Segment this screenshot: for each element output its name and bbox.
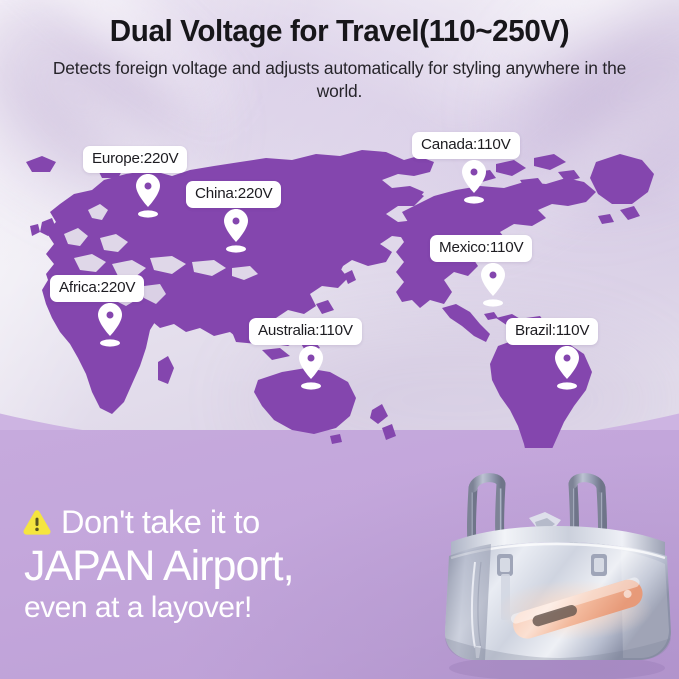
map-label-europe[interactable]: Europe:220V [83,146,187,173]
map-label-china[interactable]: China:220V [186,181,281,208]
warning-line-2: JAPAN Airport, [24,545,294,589]
page-title: Dual Voltage for Travel(110~250V) [10,14,669,50]
map-label-australia[interactable]: Australia:110V [249,318,362,345]
map-label-canada[interactable]: Canada:110V [412,132,520,159]
warning-line-3: even at a layover! [24,592,294,624]
warning-block: Don't take it to JAPAN Airport, even at … [22,506,294,624]
product-image-handbag [425,470,679,679]
warning-line-1-row: Don't take it to [22,506,294,539]
location-pin-icon [476,261,510,307]
location-pin-icon [457,158,491,204]
location-pin-icon [294,344,328,390]
location-pin-icon [550,344,584,390]
header: Dual Voltage for Travel(110~250V) Detect… [0,0,679,103]
product-infographic: Dual Voltage for Travel(110~250V) Detect… [0,0,679,679]
location-pin-icon [219,207,253,253]
map-label-mexico[interactable]: Mexico:110V [430,235,532,262]
location-pin-icon [93,301,127,347]
page-subtitle: Detects foreign voltage and adjusts auto… [0,57,679,103]
warning-line-1: Don't take it to [61,506,260,539]
location-pin-icon [131,172,165,218]
map-label-africa[interactable]: Africa:220V [50,275,144,302]
warning-triangle-icon [22,508,52,536]
map-label-brazil[interactable]: Brazil:110V [506,318,598,345]
